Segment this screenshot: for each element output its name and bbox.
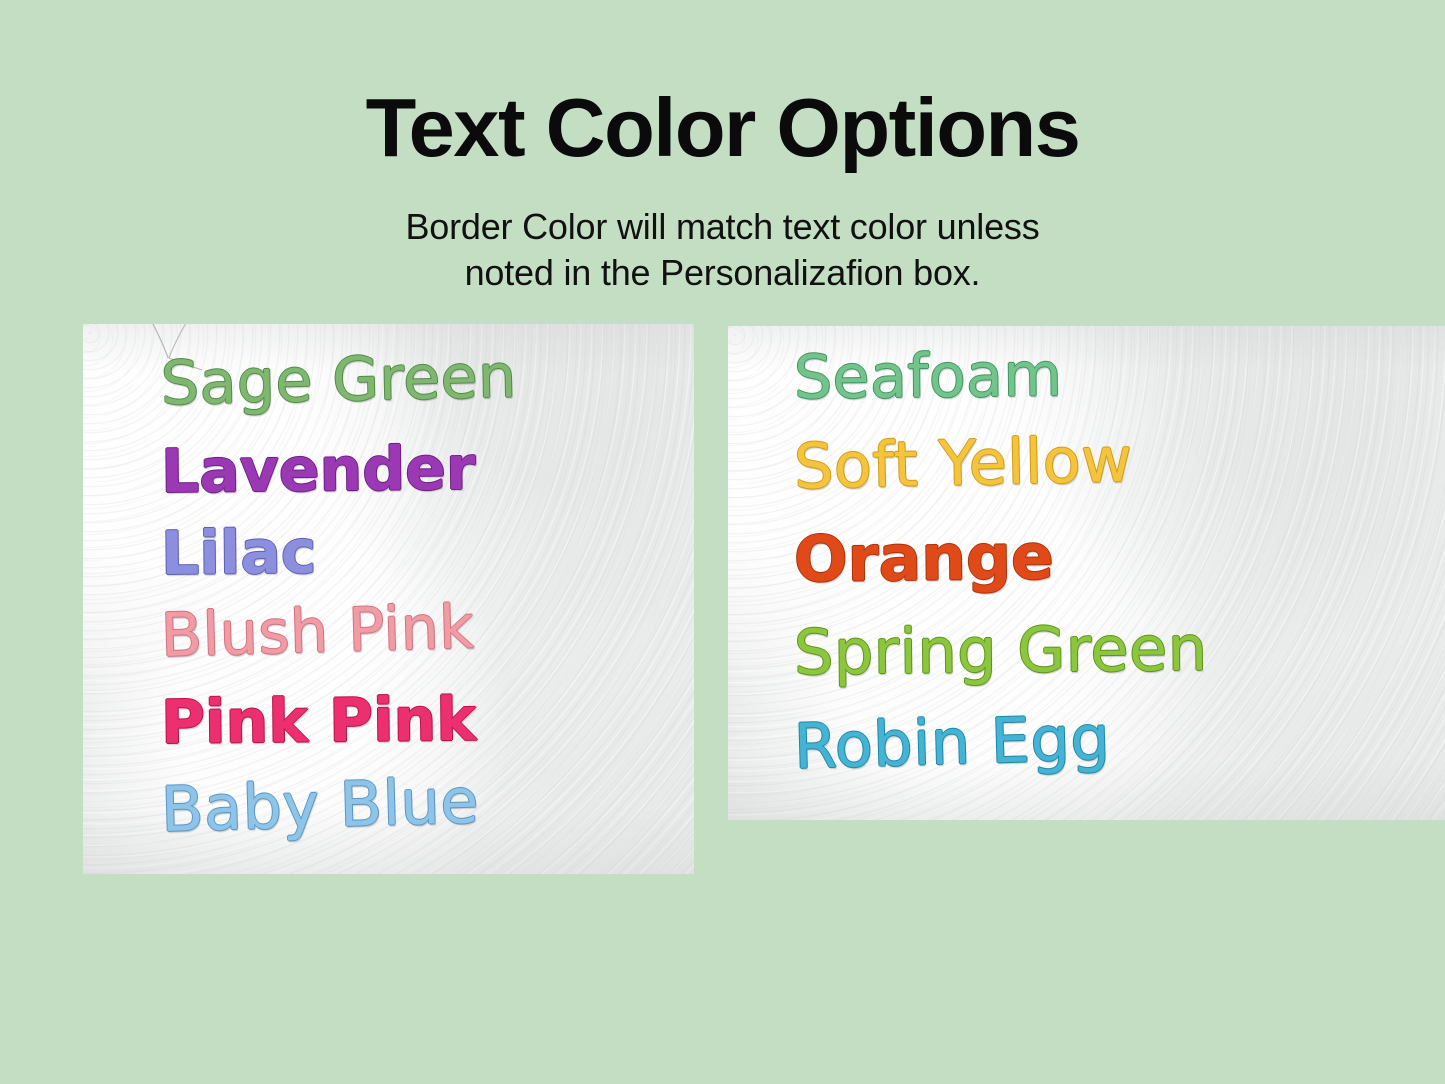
- subtitle-line-2: noted in the Personalizafion box.: [0, 250, 1445, 296]
- color-sample-sage-green: Sage Green: [160, 347, 517, 414]
- color-sample-seafoam: Seafoam: [794, 345, 1063, 408]
- color-sample-robin-egg: Robin Egg: [793, 707, 1111, 778]
- poster-subtitle: Border Color will match text color unles…: [0, 169, 1445, 296]
- color-sample-pink-pink: Pink Pink: [161, 690, 477, 753]
- color-sample-lavender: Lavender: [161, 439, 476, 502]
- right-swatch-panel: Seafoam Soft Yellow Orange Spring Green …: [728, 326, 1445, 820]
- text-color-options-poster: Text Color Options Border Color will mat…: [0, 0, 1445, 1084]
- left-swatch-panel: Sage Green Lavender Lilac Blush Pink Pin…: [83, 324, 694, 874]
- right-color-sample-list: Seafoam Soft Yellow Orange Spring Green …: [728, 326, 1445, 820]
- color-sample-blush-pink: Blush Pink: [160, 597, 475, 666]
- color-sample-baby-blue: Baby Blue: [160, 770, 480, 841]
- color-sample-soft-yellow: Soft Yellow: [793, 429, 1133, 498]
- color-sample-orange: Orange: [794, 525, 1054, 591]
- subtitle-line-1: Border Color will match text color unles…: [0, 204, 1445, 250]
- color-sample-spring-green: Spring Green: [794, 618, 1208, 684]
- page-title: Text Color Options: [0, 0, 1445, 169]
- poster-header: Text Color Options Border Color will mat…: [0, 0, 1445, 296]
- left-color-sample-list: Sage Green Lavender Lilac Blush Pink Pin…: [83, 324, 694, 874]
- color-sample-lilac: Lilac: [161, 522, 317, 584]
